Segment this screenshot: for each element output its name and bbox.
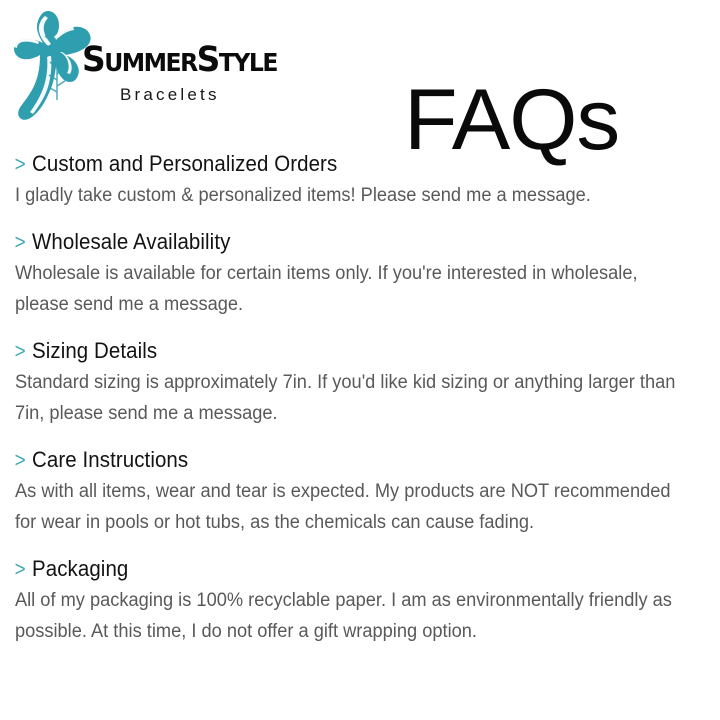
faq-answer: I gladly take custom & personalized item… xyxy=(14,180,676,211)
faq-item: > Sizing Details Standard sizing is appr… xyxy=(14,337,704,429)
faq-page: SummerStyle Bracelets FAQs > Custom and … xyxy=(0,0,720,720)
faq-question[interactable]: > Wholesale Availability xyxy=(14,228,704,256)
faq-question-text: Care Instructions xyxy=(32,446,188,473)
faq-item: > Wholesale Availability Wholesale is av… xyxy=(14,228,704,320)
faq-question[interactable]: > Care Instructions xyxy=(14,446,704,474)
brand-name-primary: SummerStyle xyxy=(82,40,294,80)
brand-name-secondary: Bracelets xyxy=(120,85,307,105)
faq-question-text: Custom and Personalized Orders xyxy=(32,150,337,177)
faq-answer: Wholesale is available for certain items… xyxy=(14,258,676,320)
faq-answer: All of my packaging is 100% recyclable p… xyxy=(14,585,676,647)
brand-logo: SummerStyle Bracelets xyxy=(10,6,310,141)
chevron-right-icon: > xyxy=(15,230,26,256)
brand-wordmark: SummerStyle Bracelets xyxy=(82,40,307,105)
faq-question-text: Packaging xyxy=(32,555,128,582)
chevron-right-icon: > xyxy=(15,339,26,365)
faq-item: > Care Instructions As with all items, w… xyxy=(14,446,704,538)
faq-question-text: Sizing Details xyxy=(32,337,157,364)
faq-question[interactable]: > Packaging xyxy=(14,555,704,583)
chevron-right-icon: > xyxy=(15,448,26,474)
chevron-right-icon: > xyxy=(15,557,26,583)
faq-item: > Custom and Personalized Orders I gladl… xyxy=(14,150,704,211)
faq-answer: As with all items, wear and tear is expe… xyxy=(14,476,676,538)
faq-item: > Packaging All of my packaging is 100% … xyxy=(14,555,704,647)
faq-answer: Standard sizing is approximately 7in. If… xyxy=(14,367,676,429)
faq-list: > Custom and Personalized Orders I gladl… xyxy=(0,150,720,647)
faq-question[interactable]: > Custom and Personalized Orders xyxy=(14,150,704,178)
page-header: SummerStyle Bracelets FAQs xyxy=(0,0,720,148)
faq-question[interactable]: > Sizing Details xyxy=(14,337,704,365)
chevron-right-icon: > xyxy=(15,152,26,178)
faq-question-text: Wholesale Availability xyxy=(32,228,230,255)
